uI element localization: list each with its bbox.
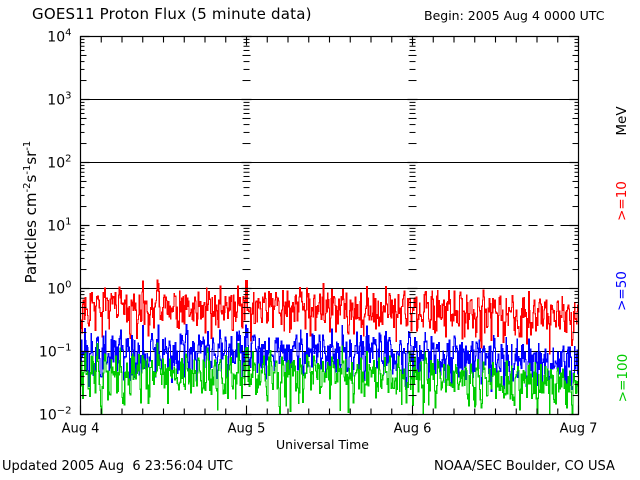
plot-canvas: 10410310210110010−110−2Aug 4Aug 5Aug 6Au… [0, 0, 640, 480]
updated-timestamp: Updated 2005 Aug 6 23:56:04 UTC [2, 459, 233, 474]
legend-item-ge50: >=50 [614, 256, 630, 326]
y-tick-label: 104 [47, 28, 71, 46]
x-axis-label: Universal Time [276, 437, 369, 452]
legend-item-ge10: >=10 [614, 166, 630, 236]
y-tick-label: 101 [47, 217, 71, 235]
series-line-1 [81, 280, 579, 354]
legend-item-ge100: >=100 [615, 338, 631, 418]
y-tick-label: 102 [47, 154, 71, 172]
y-tick-label: 103 [47, 91, 71, 109]
x-tick-label: Aug 4 [62, 422, 100, 437]
y-tick-label: 100 [47, 280, 71, 298]
legend-item-mev: MeV [614, 91, 630, 151]
x-tick-label: Aug 5 [228, 422, 266, 437]
credit-label: NOAA/SEC Boulder, CO USA [434, 459, 615, 474]
y-tick-label: 10−1 [39, 343, 72, 361]
x-tick-label: Aug 6 [394, 422, 432, 437]
x-tick-label: Aug 7 [560, 422, 598, 437]
proton-flux-plot: GOES11 Proton Flux (5 minute data) Begin… [0, 0, 640, 480]
